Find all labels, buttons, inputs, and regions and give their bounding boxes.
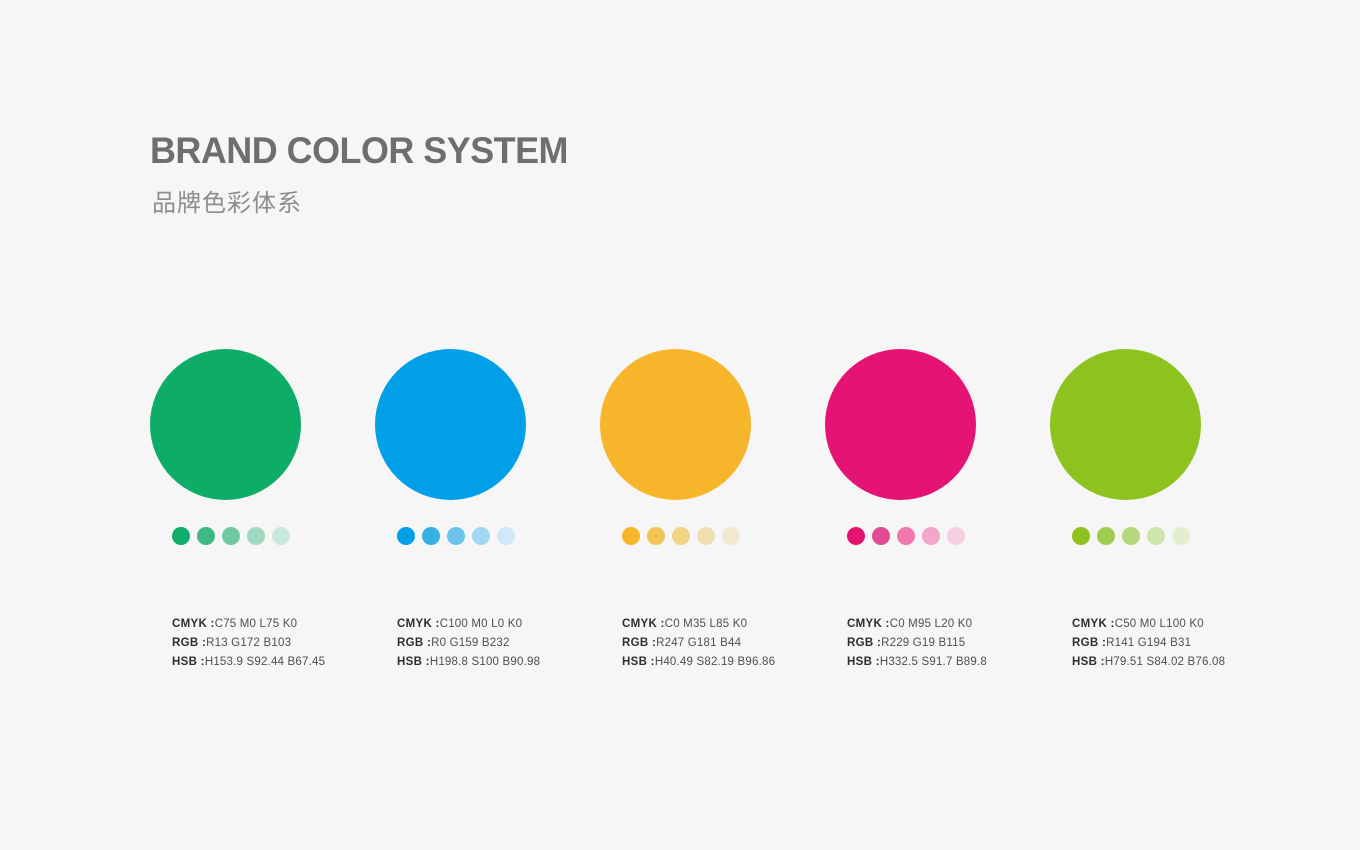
rgb-value: R141 G194 B31 [1106,637,1191,649]
rgb-label: RGB : [622,637,656,649]
color-swatch-magenta: CMYK :C0 M95 L20 K0 RGB :R229 G19 B115 H… [825,349,1050,500]
tint-dot[interactable] [647,527,665,545]
page-title: BRAND COLOR SYSTEM [150,132,568,171]
tint-dot[interactable] [172,527,190,545]
tint-dot[interactable] [222,527,240,545]
color-spec-block: CMYK :C0 M35 L85 K0 RGB :R247 G181 B44 H… [622,615,775,672]
rgb-value: R0 G159 B232 [431,637,509,649]
main-color-circle[interactable] [600,349,751,500]
tint-dot[interactable] [847,527,865,545]
tint-dot[interactable] [947,527,965,545]
hsb-label: HSB : [397,656,430,668]
tint-dot[interactable] [472,527,490,545]
main-color-circle[interactable] [150,349,301,500]
hsb-line: HSB :H332.5 S91.7 B89.8 [847,653,987,672]
tint-dot[interactable] [897,527,915,545]
color-spec-block: CMYK :C100 M0 L0 K0 RGB :R0 G159 B232 HS… [397,615,540,672]
rgb-label: RGB : [847,637,881,649]
tint-dot[interactable] [1072,527,1090,545]
tint-dot-row [622,527,740,545]
cmyk-value: C50 M0 L100 K0 [1115,618,1204,630]
cmyk-value: C0 M35 L85 K0 [665,618,748,630]
tint-dot[interactable] [497,527,515,545]
tint-dot[interactable] [722,527,740,545]
cmyk-value: C0 M95 L20 K0 [890,618,973,630]
cmyk-line: CMYK :C50 M0 L100 K0 [1072,615,1225,634]
page-header: BRAND COLOR SYSTEM 品牌色彩体系 [150,132,581,218]
color-spec-block: CMYK :C0 M95 L20 K0 RGB :R229 G19 B115 H… [847,615,987,672]
hsb-line: HSB :H79.51 S84.02 B76.08 [1072,653,1225,672]
hsb-label: HSB : [622,656,655,668]
tint-dot[interactable] [697,527,715,545]
tint-dot[interactable] [672,527,690,545]
color-swatch-blue: CMYK :C100 M0 L0 K0 RGB :R0 G159 B232 HS… [375,349,600,500]
cmyk-line: CMYK :C100 M0 L0 K0 [397,615,540,634]
hsb-value: H153.9 S92.44 B67.45 [205,656,325,668]
cmyk-label: CMYK : [1072,618,1115,630]
color-swatch-lime: CMYK :C50 M0 L100 K0 RGB :R141 G194 B31 … [1050,349,1275,500]
cmyk-label: CMYK : [397,618,440,630]
hsb-label: HSB : [1072,656,1105,668]
tint-dot[interactable] [1172,527,1190,545]
tint-dot[interactable] [422,527,440,545]
tint-dot[interactable] [1122,527,1140,545]
cmyk-label: CMYK : [847,618,890,630]
tint-dot[interactable] [1147,527,1165,545]
color-swatch-green: CMYK :C75 M0 L75 K0 RGB :R13 G172 B103 H… [150,349,375,500]
main-color-circle[interactable] [375,349,526,500]
cmyk-value: C75 M0 L75 K0 [215,618,298,630]
color-spec-block: CMYK :C75 M0 L75 K0 RGB :R13 G172 B103 H… [172,615,325,672]
hsb-line: HSB :H153.9 S92.44 B67.45 [172,653,325,672]
rgb-line: RGB :R13 G172 B103 [172,634,325,653]
hsb-value: H40.49 S82.19 B96.86 [655,656,775,668]
rgb-line: RGB :R247 G181 B44 [622,634,775,653]
cmyk-line: CMYK :C0 M35 L85 K0 [622,615,775,634]
hsb-line: HSB :H40.49 S82.19 B96.86 [622,653,775,672]
tint-dot[interactable] [622,527,640,545]
cmyk-line: CMYK :C75 M0 L75 K0 [172,615,325,634]
cmyk-line: CMYK :C0 M95 L20 K0 [847,615,987,634]
rgb-value: R13 G172 B103 [206,637,291,649]
rgb-value: R247 G181 B44 [656,637,741,649]
rgb-line: RGB :R0 G159 B232 [397,634,540,653]
hsb-value: H332.5 S91.7 B89.8 [880,656,987,668]
rgb-label: RGB : [397,637,431,649]
hsb-label: HSB : [847,656,880,668]
tint-dot-row [847,527,965,545]
color-swatch-row: CMYK :C75 M0 L75 K0 RGB :R13 G172 B103 H… [150,349,1225,500]
page-subtitle: 品牌色彩体系 [152,183,581,218]
rgb-label: RGB : [172,637,206,649]
tint-dot[interactable] [447,527,465,545]
tint-dot[interactable] [197,527,215,545]
tint-dot[interactable] [247,527,265,545]
tint-dot[interactable] [272,527,290,545]
tint-dot[interactable] [872,527,890,545]
main-color-circle[interactable] [825,349,976,500]
tint-dot[interactable] [1097,527,1115,545]
cmyk-label: CMYK : [172,618,215,630]
rgb-value: R229 G19 B115 [881,637,965,649]
rgb-line: RGB :R229 G19 B115 [847,634,987,653]
tint-dot[interactable] [922,527,940,545]
tint-dot[interactable] [397,527,415,545]
rgb-line: RGB :R141 G194 B31 [1072,634,1225,653]
cmyk-label: CMYK : [622,618,665,630]
hsb-value: H79.51 S84.02 B76.08 [1105,656,1225,668]
tint-dot-row [397,527,515,545]
tint-dot-row [1072,527,1190,545]
hsb-line: HSB :H198.8 S100 B90.98 [397,653,540,672]
hsb-value: H198.8 S100 B90.98 [430,656,540,668]
color-spec-block: CMYK :C50 M0 L100 K0 RGB :R141 G194 B31 … [1072,615,1225,672]
rgb-label: RGB : [1072,637,1106,649]
hsb-label: HSB : [172,656,205,668]
tint-dot-row [172,527,290,545]
main-color-circle[interactable] [1050,349,1201,500]
cmyk-value: C100 M0 L0 K0 [440,618,523,630]
color-swatch-yellow: CMYK :C0 M35 L85 K0 RGB :R247 G181 B44 H… [600,349,825,500]
